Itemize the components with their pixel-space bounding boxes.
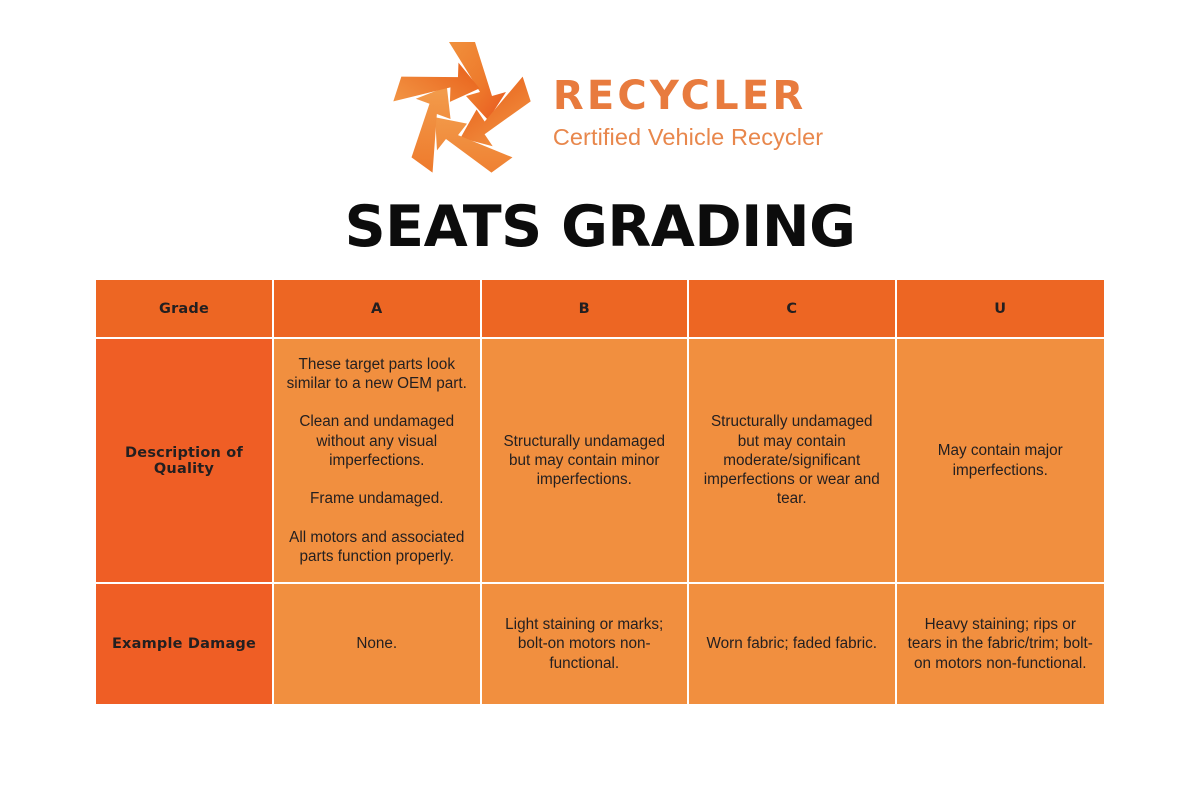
cell-paragraph: Structurally undamaged but may contain m… bbox=[492, 432, 678, 490]
column-header-u: U bbox=[897, 280, 1105, 339]
column-header-a: A bbox=[274, 280, 482, 339]
cell-paragraph: These target parts look similar to a new… bbox=[284, 355, 470, 394]
logo-wordmark: RECYCLER bbox=[553, 75, 823, 117]
cell-paragraph: None. bbox=[284, 634, 470, 653]
logo-tagline: Certified Vehicle Recycler bbox=[553, 123, 823, 151]
cell-paragraph: Worn fabric; faded fabric. bbox=[699, 634, 885, 653]
cell-paragraph: Frame undamaged. bbox=[284, 489, 470, 508]
cell-paragraph: Heavy staining; rips or tears in the fab… bbox=[907, 615, 1095, 673]
cell-description-b: Structurally undamaged but may contain m… bbox=[482, 339, 690, 584]
table-row: Example Damage None. Light staining or m… bbox=[96, 584, 1104, 704]
column-header-b: B bbox=[482, 280, 690, 339]
row-label-example-damage: Example Damage bbox=[96, 584, 274, 704]
cell-example-c: Worn fabric; faded fabric. bbox=[689, 584, 897, 704]
cell-example-b: Light staining or marks; bolt-on motors … bbox=[482, 584, 690, 704]
cell-description-a: These target parts look similar to a new… bbox=[274, 339, 482, 584]
cell-paragraph: Light staining or marks; bolt-on motors … bbox=[492, 615, 678, 673]
table-header: Grade A B C U bbox=[96, 280, 1104, 339]
column-header-c: C bbox=[689, 280, 897, 339]
column-header-grade: Grade bbox=[96, 280, 274, 339]
cell-description-c: Structurally undamaged but may contain m… bbox=[689, 339, 897, 584]
cell-description-u: May contain major imperfections. bbox=[897, 339, 1105, 584]
cell-paragraph: May contain major imperfections. bbox=[907, 441, 1095, 480]
cell-example-a: None. bbox=[274, 584, 482, 704]
table-row: Description of Quality These target part… bbox=[96, 339, 1104, 584]
table-body: Description of Quality These target part… bbox=[96, 339, 1104, 704]
logo-text-block: RECYCLER Certified Vehicle Recycler bbox=[553, 59, 823, 151]
row-label-description-of-quality: Description of Quality bbox=[96, 339, 274, 584]
cell-paragraph: All motors and associated parts function… bbox=[284, 528, 470, 567]
logo-inner: RECYCLER Certified Vehicle Recycler bbox=[377, 30, 823, 182]
recycling-star-logo-icon bbox=[377, 30, 547, 182]
cell-paragraph: Structurally undamaged but may contain m… bbox=[699, 412, 885, 508]
cell-paragraph: Clean and undamaged without any visual i… bbox=[284, 412, 470, 470]
seats-grading-table: Grade A B C U Description of Quality The… bbox=[96, 280, 1104, 704]
brand-logo: RECYCLER Certified Vehicle Recycler bbox=[0, 28, 1200, 183]
cell-example-u: Heavy staining; rips or tears in the fab… bbox=[897, 584, 1105, 704]
table-header-row: Grade A B C U bbox=[96, 280, 1104, 339]
page-title: SEATS GRADING bbox=[0, 196, 1200, 259]
